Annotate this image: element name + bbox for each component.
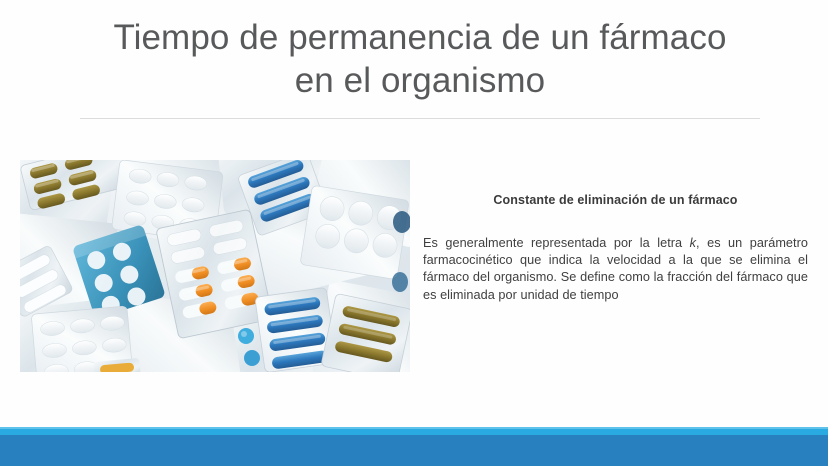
- slide-canvas: Tiempo de permanencia de un fármaco en e…: [0, 0, 828, 466]
- content-paragraph: Es generalmente representada por la letr…: [423, 235, 808, 304]
- title-divider: [80, 118, 760, 119]
- slide-title-block: Tiempo de permanencia de un fármaco en e…: [80, 16, 760, 102]
- paragraph-segment-1: Es generalmente representada por la letr…: [423, 236, 690, 250]
- pills-photo: [20, 160, 410, 372]
- content-heading: Constante de eliminación de un fármaco: [423, 192, 808, 208]
- content-text-column: Constante de eliminación de un fármaco E…: [423, 192, 808, 304]
- pills-photo-illustration: [20, 160, 410, 372]
- page-title: Tiempo de permanencia de un fármaco en e…: [80, 16, 760, 102]
- footer-accent-dark: [0, 435, 828, 466]
